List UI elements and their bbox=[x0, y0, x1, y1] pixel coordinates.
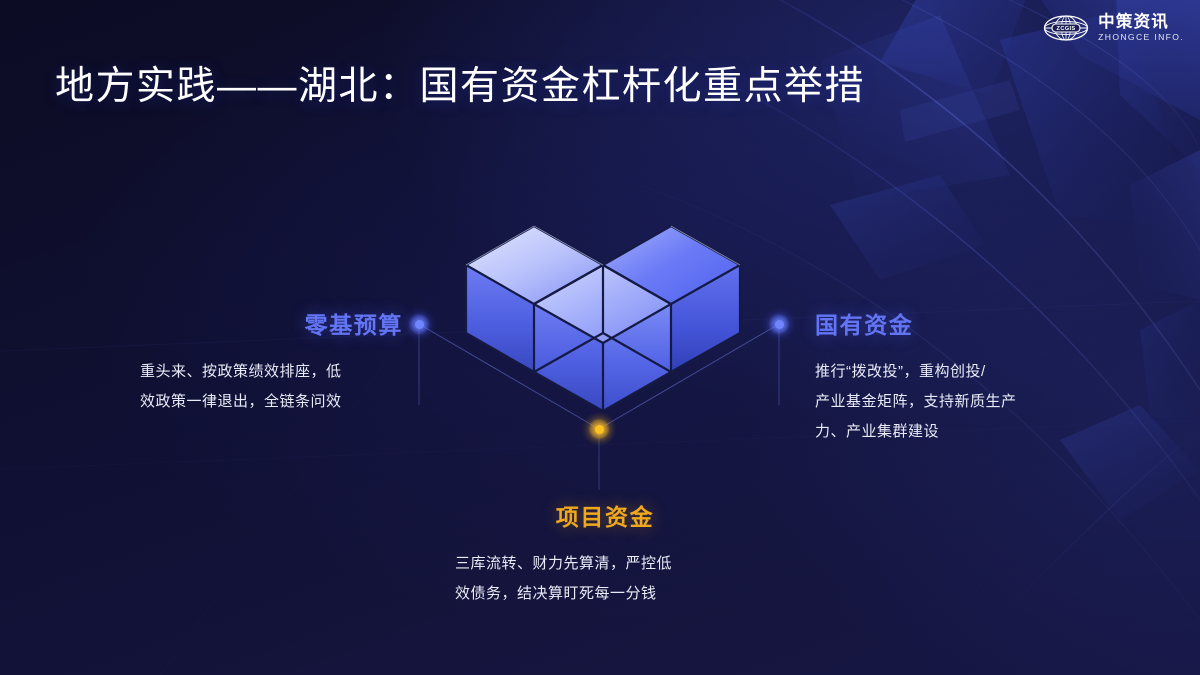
zcgis-globe-icon: ZCGIS bbox=[1043, 13, 1089, 43]
info-block-zero-based-budget: 零基预算 重头来、按政策绩效排座，低 效政策一律退出，全链条问效 bbox=[140, 306, 405, 417]
block-heading: 项目资金 bbox=[455, 498, 755, 532]
node-core bbox=[415, 320, 424, 329]
svg-text:ZCGIS: ZCGIS bbox=[1057, 26, 1076, 32]
brand-logo: ZCGIS 中策资讯 ZHONGCE INFO. bbox=[1043, 13, 1184, 43]
node-marker-left[interactable] bbox=[402, 307, 436, 341]
block-body: 重头来、按政策绩效排座，低 效政策一律退出，全链条问效 bbox=[140, 357, 405, 417]
block-body: 推行“拨改投”，重构创投/ 产业基金矩阵，支持新质生产 力、产业集群建设 bbox=[815, 357, 1080, 447]
block-body-line: 重头来、按政策绩效排座，低 bbox=[140, 357, 405, 387]
block-body-line: 推行“拨改投”，重构创投/ bbox=[815, 357, 1080, 387]
node-marker-bottom[interactable] bbox=[582, 412, 616, 446]
logo-name-en: ZHONGCE INFO. bbox=[1098, 33, 1184, 42]
info-block-state-owned-capital: 国有资金 推行“拨改投”，重构创投/ 产业基金矩阵，支持新质生产 力、产业集群建… bbox=[815, 306, 1080, 447]
block-body-line: 效债务，结决算盯死每一分钱 bbox=[455, 579, 755, 609]
node-core bbox=[775, 320, 784, 329]
node-marker-right[interactable] bbox=[762, 307, 796, 341]
block-body: 三库流转、财力先算清，严控低 效债务，结决算盯死每一分钱 bbox=[455, 549, 755, 609]
slide-canvas: ZCGIS 中策资讯 ZHONGCE INFO. 地方实践——湖北：国有资金杠杆… bbox=[0, 0, 1200, 675]
node-core bbox=[595, 425, 604, 434]
block-body-line: 效政策一律退出，全链条问效 bbox=[140, 387, 405, 417]
page-title: 地方实践——湖北：国有资金杠杆化重点举措 bbox=[55, 55, 865, 111]
block-body-line: 三库流转、财力先算清，严控低 bbox=[455, 549, 755, 579]
block-body-line: 力、产业集群建设 bbox=[815, 417, 1080, 447]
info-block-project-funds: 项目资金 三库流转、财力先算清，严控低 效债务，结决算盯死每一分钱 bbox=[455, 498, 755, 609]
block-body-line: 产业基金矩阵，支持新质生产 bbox=[815, 387, 1080, 417]
block-heading: 国有资金 bbox=[815, 306, 1080, 340]
block-heading: 零基预算 bbox=[140, 306, 405, 340]
isometric-cube-graphic bbox=[438, 160, 768, 410]
logo-name-cn: 中策资讯 bbox=[1098, 14, 1184, 31]
